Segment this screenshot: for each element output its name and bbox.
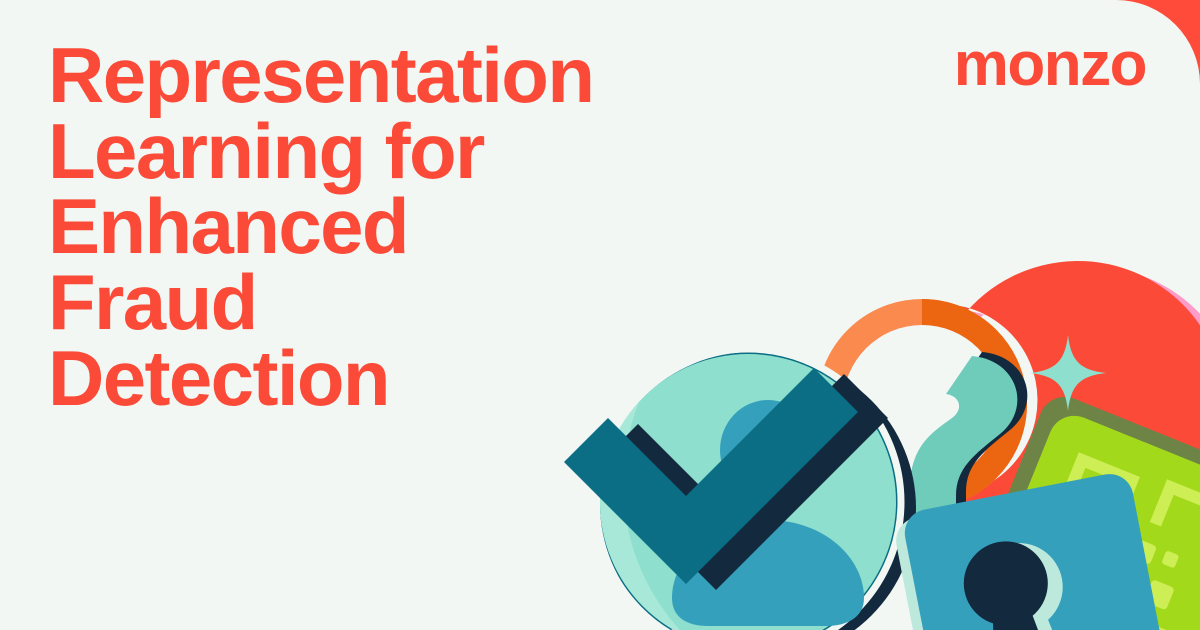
share-card-canvas: Representation Learning for Enhanced Fra…: [0, 0, 1200, 630]
monzo-logo: monzo: [954, 34, 1146, 96]
page-title: Representation Learning for Enhanced Fra…: [48, 38, 808, 416]
